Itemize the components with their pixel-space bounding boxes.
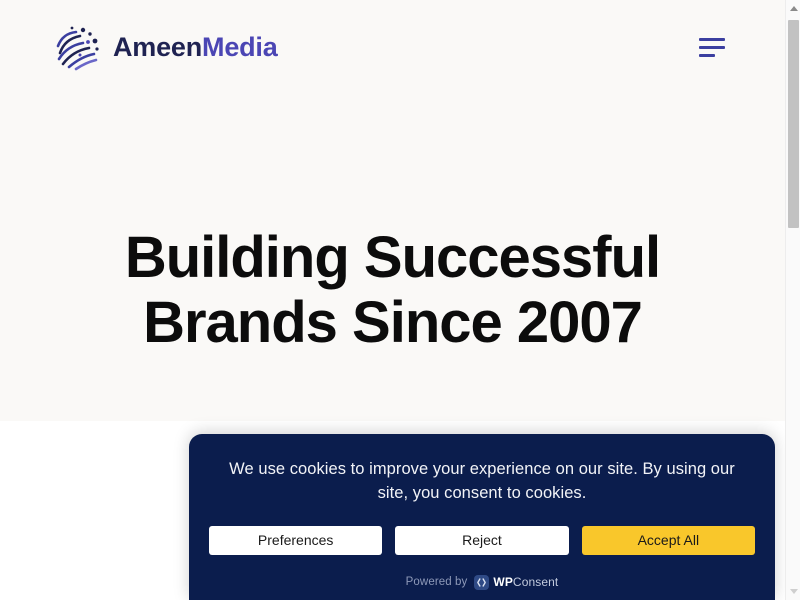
brand-logo-link[interactable]: AmeenMedia xyxy=(52,22,278,74)
wpconsent-logo[interactable]: WPConsent xyxy=(474,575,558,590)
cookie-actions: Preferences Reject Accept All xyxy=(209,526,755,555)
scroll-up-arrow-icon[interactable] xyxy=(786,0,800,17)
brand-name-part-two: Media xyxy=(202,32,278,62)
powered-by-label: Powered by xyxy=(406,576,468,588)
cookie-message: We use cookies to improve your experienc… xyxy=(209,450,755,506)
hero-title: Building Successful Brands Since 2007 xyxy=(0,225,785,356)
page-scrollbar[interactable] xyxy=(785,0,800,600)
cookie-consent-banner: We use cookies to improve your experienc… xyxy=(189,434,775,600)
wpconsent-badge-icon xyxy=(474,575,489,590)
page-content: AmeenMedia Building Successful Brands Si… xyxy=(0,0,785,600)
scrollbar-thumb[interactable] xyxy=(788,20,799,228)
scroll-down-arrow-icon[interactable] xyxy=(786,583,800,600)
wpconsent-wordmark: WPConsent xyxy=(493,575,558,589)
preferences-button[interactable]: Preferences xyxy=(209,526,382,555)
brand-name-part-one: Ameen xyxy=(113,32,202,62)
browser-viewport: AmeenMedia Building Successful Brands Si… xyxy=(0,0,800,600)
site-header: AmeenMedia xyxy=(0,0,785,95)
down-triangle xyxy=(790,589,798,594)
accept-all-button[interactable]: Accept All xyxy=(582,526,755,555)
wpconsent-name-strong: WP xyxy=(493,575,513,589)
menu-line-middle xyxy=(699,46,725,49)
reject-button[interactable]: Reject xyxy=(395,526,568,555)
wpconsent-name-light: Consent xyxy=(513,575,558,589)
brand-name: AmeenMedia xyxy=(113,34,278,61)
up-triangle xyxy=(790,6,798,11)
hamburger-menu-icon[interactable] xyxy=(699,35,733,61)
ameenmedia-abstract-mark-icon xyxy=(52,22,104,74)
menu-line-bottom xyxy=(699,54,715,57)
wpconsent-slash-glyph-icon xyxy=(476,577,487,588)
cookie-banner-footer: Powered by WPConsent xyxy=(209,575,755,590)
menu-line-top xyxy=(699,38,725,41)
